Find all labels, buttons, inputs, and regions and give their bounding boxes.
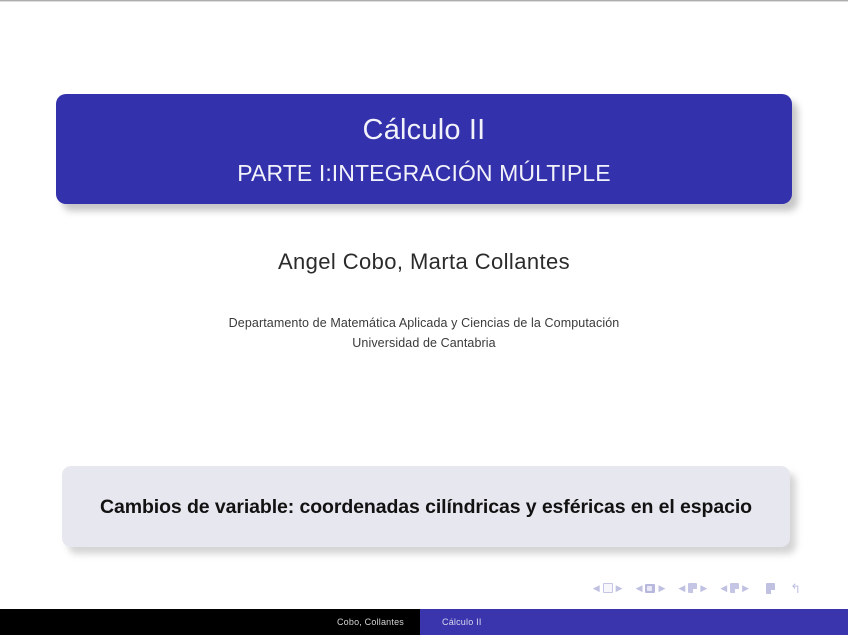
presentation-slide: Cálculo II PARTE I:INTEGRACIÓN MÚLTIPLE …	[0, 0, 848, 635]
back-navigation-icon[interactable]: ↰	[790, 582, 800, 595]
author-names: Angel Cobo, Marta Collantes	[0, 249, 848, 275]
footer-bar: Cobo, Collantes Cálculo II	[0, 609, 848, 635]
top-rule-divider	[0, 0, 848, 2]
document-navigation-icon[interactable]	[766, 583, 775, 594]
institute-university: Universidad de Cantabria	[0, 333, 848, 353]
title-block: Cálculo II PARTE I:INTEGRACIÓN MÚLTIPLE	[56, 94, 792, 204]
previous-subsection-arrow-icon[interactable]: ◀	[676, 584, 687, 593]
frame-navigation-icon[interactable]	[645, 584, 655, 593]
next-slide-arrow-icon[interactable]: ▶	[614, 584, 625, 593]
nav-group-section[interactable]: ◀ ▶	[718, 583, 751, 593]
slide-navigation-icon[interactable]	[603, 583, 613, 593]
next-subsection-arrow-icon[interactable]: ▶	[698, 584, 709, 593]
nav-group-subsection[interactable]: ◀ ▶	[676, 583, 709, 593]
previous-slide-arrow-icon[interactable]: ◀	[591, 584, 602, 593]
footer-author-segment: Cobo, Collantes	[0, 609, 420, 635]
beamer-navigation-symbols[interactable]: ◀ ▶ ◀ ▶ ◀ ▶ ◀ ▶ ↰	[591, 578, 800, 598]
section-title-block: Cambios de variable: coordenadas cilíndr…	[62, 466, 790, 547]
institute-block: Departamento de Matemática Aplicada y Ci…	[0, 313, 848, 353]
subsection-navigation-icon[interactable]	[688, 583, 697, 593]
next-frame-arrow-icon[interactable]: ▶	[656, 584, 667, 593]
presentation-title: Cálculo II	[56, 112, 792, 148]
previous-frame-arrow-icon[interactable]: ◀	[634, 584, 645, 593]
section-title-text: Cambios de variable: coordenadas cilíndr…	[100, 492, 752, 522]
next-section-arrow-icon[interactable]: ▶	[740, 584, 751, 593]
footer-title-text: Cálculo II	[442, 617, 482, 627]
previous-section-arrow-icon[interactable]: ◀	[718, 584, 729, 593]
nav-group-slide[interactable]: ◀ ▶	[591, 583, 625, 593]
footer-author-text: Cobo, Collantes	[337, 617, 404, 627]
presentation-subtitle: PARTE I:INTEGRACIÓN MÚLTIPLE	[56, 157, 792, 189]
nav-group-frame[interactable]: ◀ ▶	[634, 584, 668, 593]
footer-title-segment: Cálculo II	[420, 609, 848, 635]
institute-department: Departamento de Matemática Aplicada y Ci…	[0, 313, 848, 333]
section-navigation-icon[interactable]	[730, 583, 739, 593]
